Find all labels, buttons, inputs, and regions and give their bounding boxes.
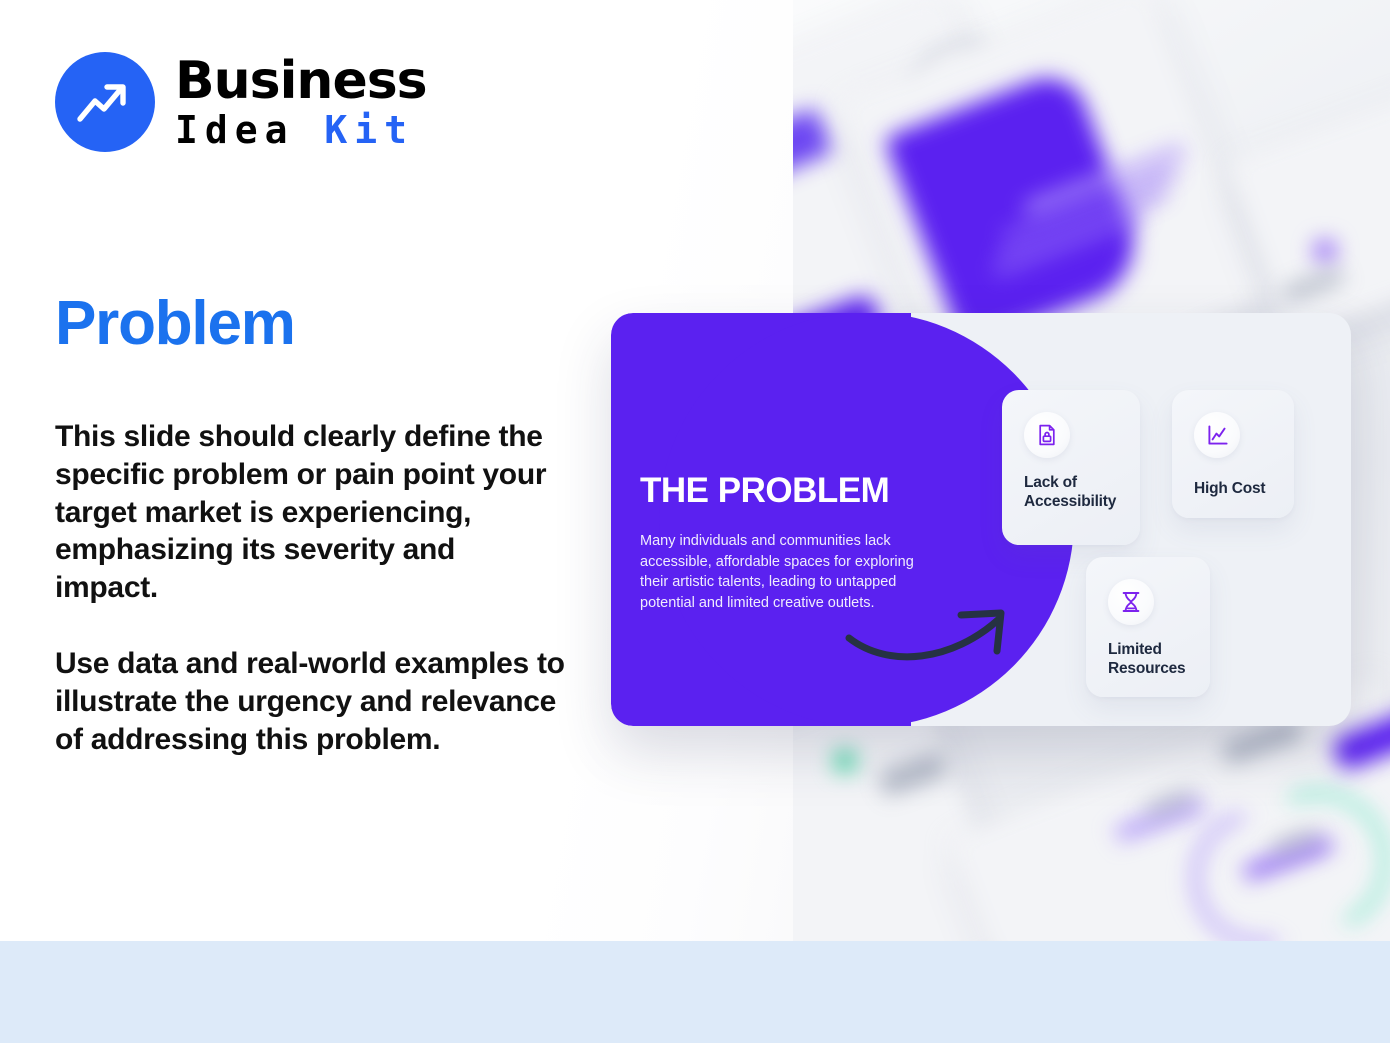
brand-wordmark: Business Idea Kit [175,55,427,149]
slide-title: THE PROBLEM [640,473,940,508]
curved-arrow-icon [841,593,1021,673]
line-chart-icon [1194,412,1240,458]
body-copy: This slide should clearly define the spe… [55,418,565,758]
page-title: Problem [55,293,295,355]
body-paragraph-2: Use data and real-world examples to illu… [55,645,565,758]
brand-subtitle: Idea Kit [175,111,427,149]
brand-subtitle-main: Idea [175,108,324,152]
feature-tile-limited-resources[interactable]: Limited Resources [1086,557,1210,697]
body-paragraph-1: This slide should clearly define the spe… [55,418,565,607]
growth-arrow-circle-icon [55,52,155,152]
brand-logo[interactable]: Business Idea Kit [55,52,427,152]
feature-tile-high-cost[interactable]: High Cost [1172,390,1294,518]
feature-tile-lack-of-accessibility[interactable]: Lack of Accessibility [1002,390,1140,545]
feature-tile-label: High Cost [1194,480,1272,499]
feature-tile-label: Limited Resources [1108,641,1188,679]
brand-title: Business [175,55,427,107]
feature-tile-label: Lack of Accessibility [1024,474,1118,512]
footer-band [0,941,1390,1043]
page-canvas: Business Idea Kit Problem This slide sho… [0,0,1390,1043]
brand-subtitle-accent: Kit [324,108,414,152]
hourglass-icon [1108,579,1154,625]
document-lock-icon [1024,412,1070,458]
slide-preview-card[interactable]: THE PROBLEM Many individuals and communi… [611,313,1351,726]
